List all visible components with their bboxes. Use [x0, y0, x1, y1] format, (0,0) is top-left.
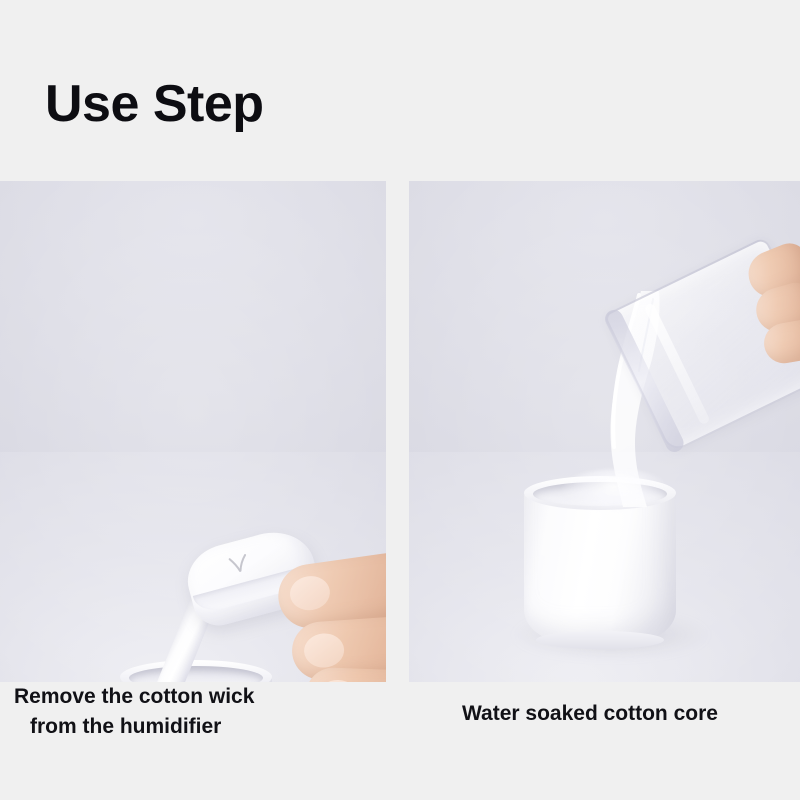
- hand: [742, 248, 800, 368]
- step-1-caption-line-2: from the humidifier: [14, 712, 254, 742]
- hand: [258, 553, 386, 682]
- water-splash: [561, 469, 671, 513]
- fingernail: [288, 574, 332, 613]
- step-1-caption-line-1: Remove the cotton wick: [14, 682, 254, 712]
- humidifier-base-cup: [120, 670, 272, 682]
- step-1-caption: Remove the cotton wick from the humidifi…: [14, 682, 254, 743]
- brand-logo-icon: [226, 552, 252, 575]
- cup-foot: [536, 631, 664, 649]
- step-1-photo: [0, 181, 386, 682]
- step-2-photo-contents: [409, 181, 800, 682]
- fingernail: [303, 632, 345, 669]
- fingernail: [317, 679, 358, 682]
- step-2-caption: Water soaked cotton core: [462, 699, 718, 729]
- page-title: Use Step: [45, 78, 264, 130]
- step-2-caption-line-1: Water soaked cotton core: [462, 699, 718, 729]
